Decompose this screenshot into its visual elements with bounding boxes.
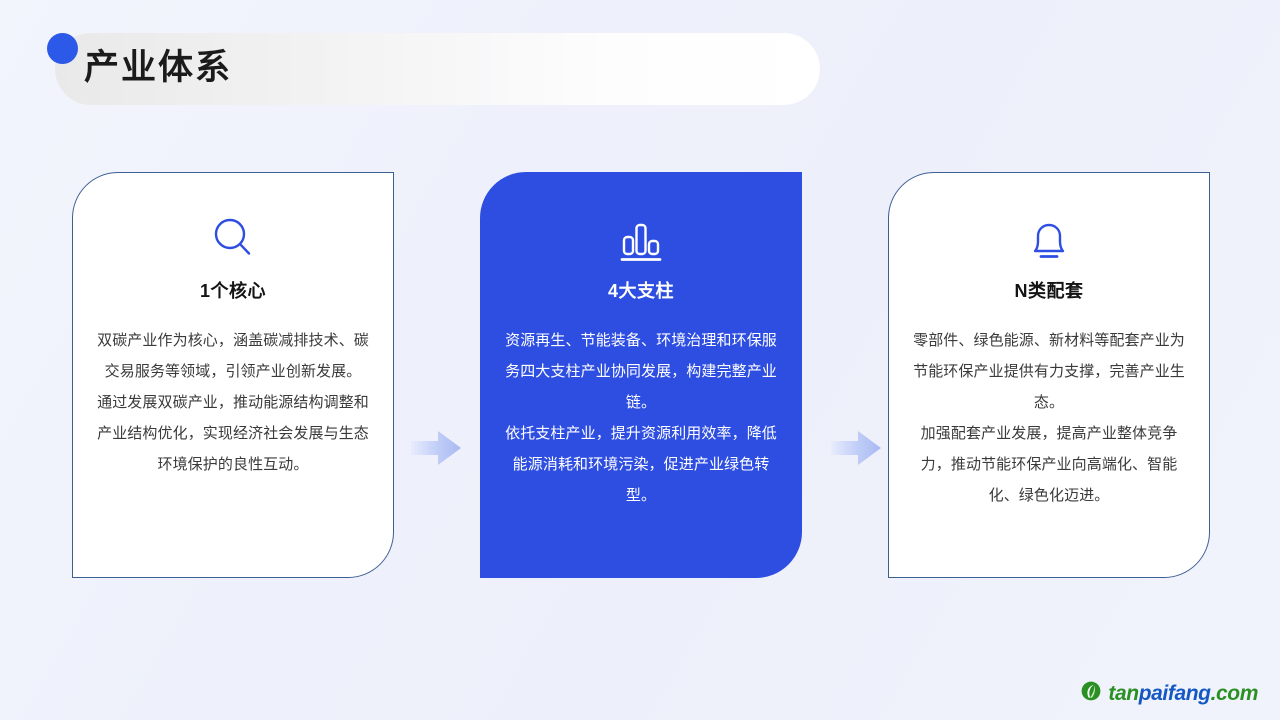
card-pillars[interactable]: 4大支柱 资源再生、节能装备、环境治理和环保服务四大支柱产业协同发展，构建完整产… bbox=[480, 172, 802, 578]
card-paragraph: 零部件、绿色能源、新材料等配套产业为节能环保产业提供有力支撑，完善产业生态。 bbox=[911, 325, 1187, 418]
bell-icon bbox=[1023, 211, 1075, 267]
card-title: 1个核心 bbox=[200, 277, 266, 303]
leaf-circle-icon bbox=[1081, 681, 1101, 706]
card-core[interactable]: 1个核心 双碳产业作为核心，涵盖碳减排技术、碳交易服务等领域，引领产业创新发展。… bbox=[72, 172, 394, 578]
page-header: 产业体系 bbox=[0, 0, 1280, 140]
card-paragraph: 资源再生、节能装备、环境治理和环保服务四大支柱产业协同发展，构建完整产业链。 bbox=[503, 325, 779, 418]
arrow-right-icon bbox=[409, 428, 463, 468]
logo-text-part-3: .com bbox=[1211, 682, 1258, 705]
card-body: 双碳产业作为核心，涵盖碳减排技术、碳交易服务等领域，引领产业创新发展。 通过发展… bbox=[95, 325, 371, 480]
card-paragraph: 依托支柱产业，提升资源利用效率，降低能源消耗和环境污染，促进产业绿色转型。 bbox=[503, 418, 779, 511]
page-title: 产业体系 bbox=[84, 46, 232, 90]
logo-text-part-2: paifang bbox=[1139, 682, 1211, 705]
search-icon bbox=[207, 211, 259, 267]
card-body: 资源再生、节能装备、环境治理和环保服务四大支柱产业协同发展，构建完整产业链。 依… bbox=[503, 325, 779, 511]
card-paragraph: 双碳产业作为核心，涵盖碳减排技术、碳交易服务等领域，引领产业创新发展。 bbox=[95, 325, 371, 387]
blue-dot-icon bbox=[47, 33, 78, 64]
cards-row: 1个核心 双碳产业作为核心，涵盖碳减排技术、碳交易服务等领域，引领产业创新发展。… bbox=[0, 172, 1280, 582]
card-title: N类配套 bbox=[1015, 277, 1084, 303]
card-supporting[interactable]: N类配套 零部件、绿色能源、新材料等配套产业为节能环保产业提供有力支撑，完善产业… bbox=[888, 172, 1210, 578]
bar-chart-icon bbox=[615, 211, 667, 267]
card-body: 零部件、绿色能源、新材料等配套产业为节能环保产业提供有力支撑，完善产业生态。 加… bbox=[911, 325, 1187, 511]
site-logo[interactable]: tanpaifang.com bbox=[1081, 681, 1258, 706]
card-paragraph: 通过发展双碳产业，推动能源结构调整和产业结构优化，实现经济社会发展与生态环境保护… bbox=[95, 387, 371, 480]
arrow-right-icon bbox=[829, 428, 883, 468]
logo-text-part-1: tan bbox=[1108, 682, 1138, 705]
card-paragraph: 加强配套产业发展，提高产业整体竞争力，推动节能环保产业向高端化、智能化、绿色化迈… bbox=[911, 418, 1187, 511]
logo-text: tanpaifang.com bbox=[1108, 683, 1258, 704]
card-title: 4大支柱 bbox=[608, 277, 674, 303]
